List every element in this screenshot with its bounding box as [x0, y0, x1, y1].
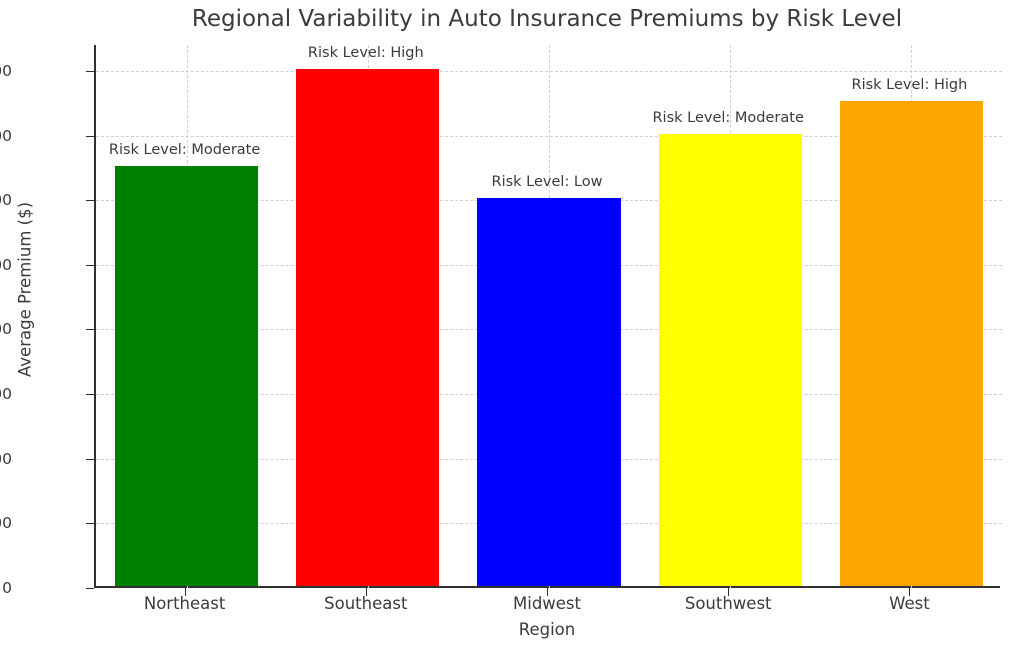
- bar-annotation-southeast: Risk Level: High: [308, 45, 424, 61]
- bar-southeast: [296, 69, 439, 586]
- y-axis-tick-label: 1200: [0, 191, 12, 209]
- y-axis-tick-label: 0: [2, 579, 12, 597]
- y-axis-tick-label: 1400: [0, 127, 12, 145]
- x-axis-tick-mark: [728, 588, 729, 596]
- plot-area: [94, 45, 1000, 588]
- bar-annotation-southwest: Risk Level: Moderate: [652, 110, 803, 126]
- y-axis-tick-mark: [86, 523, 94, 524]
- y-axis-tick-label: 200: [0, 514, 12, 532]
- y-axis-label: Average Premium ($): [16, 130, 35, 450]
- x-axis-tick-mark: [185, 588, 186, 596]
- y-axis-tick-mark: [86, 459, 94, 460]
- x-axis-tick-label-southeast: Southeast: [324, 594, 407, 613]
- x-axis-tick-label-west: West: [889, 594, 930, 613]
- y-axis-tick-label: 800: [0, 320, 12, 338]
- bar-annotation-west: Risk Level: High: [852, 77, 968, 93]
- chart-figure: Regional Variability in Auto Insurance P…: [0, 0, 1024, 652]
- y-axis-tick-mark: [86, 588, 94, 589]
- x-axis-tick-label-midwest: Midwest: [513, 594, 581, 613]
- y-axis-tick-mark: [86, 265, 94, 266]
- bar-annotation-northeast: Risk Level: Moderate: [109, 142, 260, 158]
- y-axis-tick-mark: [86, 71, 94, 72]
- x-axis-tick-mark: [547, 588, 548, 596]
- x-axis-label: Region: [94, 620, 1000, 639]
- y-axis-tick-label: 400: [0, 450, 12, 468]
- bar-annotation-midwest: Risk Level: Low: [492, 174, 603, 190]
- bar-midwest: [477, 198, 620, 586]
- y-axis-tick-label: 1000: [0, 256, 12, 274]
- x-axis-tick-mark: [366, 588, 367, 596]
- bar-northeast: [115, 166, 258, 586]
- y-axis-tick-mark: [86, 200, 94, 201]
- y-axis-tick-label: 1600: [0, 62, 12, 80]
- y-axis-tick-mark: [86, 394, 94, 395]
- x-axis-tick-label-northeast: Northeast: [144, 594, 225, 613]
- chart-title: Regional Variability in Auto Insurance P…: [94, 6, 1000, 32]
- y-axis-tick-label: 600: [0, 385, 12, 403]
- y-axis-tick-mark: [86, 136, 94, 137]
- x-axis-tick-label-southwest: Southwest: [685, 594, 772, 613]
- y-axis-tick-mark: [86, 329, 94, 330]
- x-axis-tick-mark: [909, 588, 910, 596]
- bar-southwest: [659, 134, 802, 587]
- bar-west: [840, 101, 983, 586]
